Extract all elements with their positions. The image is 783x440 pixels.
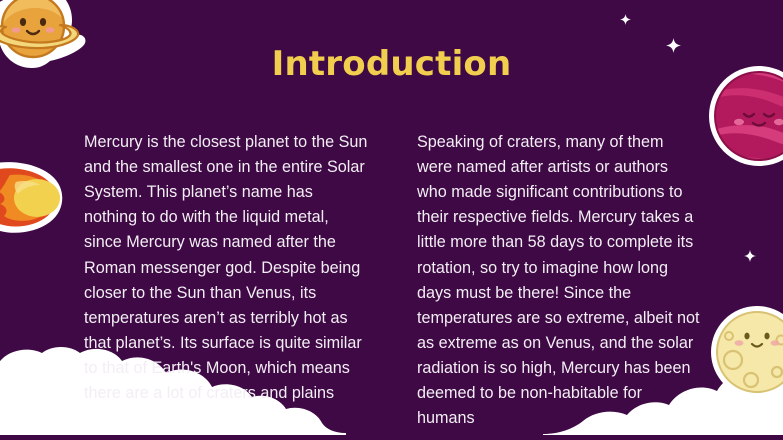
sparkle-icon-1 <box>620 12 631 30</box>
body-columns: Mercury is the closest planet to the Sun… <box>84 130 702 431</box>
moon-sticker <box>709 300 783 415</box>
presentation-slide: Introduction Mercury is the closest plan… <box>0 0 783 440</box>
page-title: Introduction <box>0 44 783 84</box>
comet-sticker <box>0 158 70 245</box>
body-paragraph-left: Mercury is the closest planet to the Sun… <box>84 130 369 431</box>
sparkle-icon-3 <box>744 249 756 267</box>
body-paragraph-right: Speaking of craters, many of them were n… <box>417 130 702 431</box>
